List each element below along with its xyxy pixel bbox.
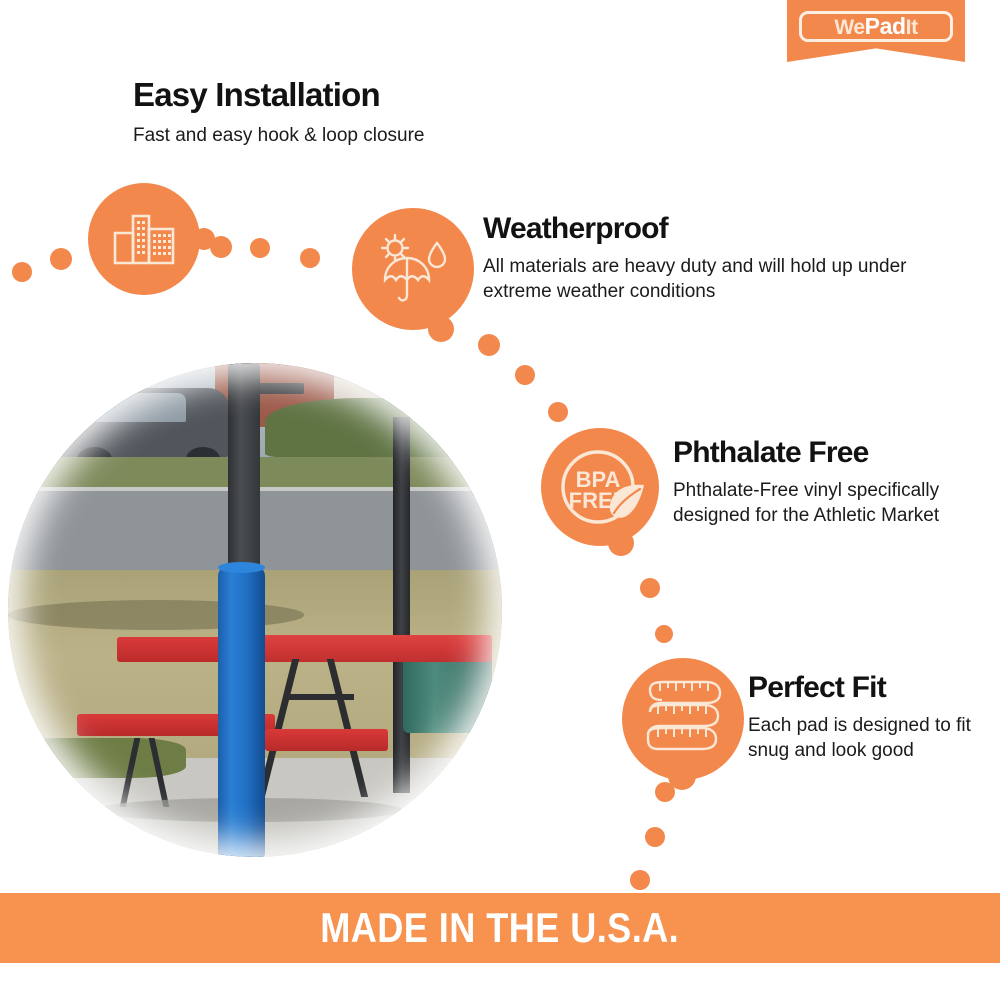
connector-dot xyxy=(645,827,665,847)
connector-dot xyxy=(640,578,660,598)
feature-description-weatherproof: All materials are heavy duty and will ho… xyxy=(483,254,913,305)
feature-icon-badge-phthalate-free: BPA FREE xyxy=(541,428,659,546)
connector-dot xyxy=(250,238,270,258)
feature-icon-badge-easy-installation xyxy=(88,183,200,295)
product-photo xyxy=(8,363,502,857)
feature-block-easy-installation: Easy Installation Fast and easy hook & l… xyxy=(133,78,613,148)
connector-dot xyxy=(478,334,500,356)
connector-dot xyxy=(655,625,673,643)
umbrella-sun-raindrop-icon xyxy=(376,233,450,305)
bpa-free-leaf-icon: BPA FREE xyxy=(548,435,652,539)
connector-dot xyxy=(548,402,568,422)
infographic-page: WePadIt Easy Installation Fast and easy … xyxy=(0,0,1000,987)
connector-dot xyxy=(210,236,232,258)
feature-icon-badge-weatherproof xyxy=(352,208,474,330)
feature-title-weatherproof: Weatherproof xyxy=(483,213,913,245)
product-photo-scene xyxy=(8,363,502,857)
badge-nub-weatherproof xyxy=(428,316,454,342)
feature-title-phthalate-free: Phthalate Free xyxy=(673,437,973,469)
feature-block-phthalate-free: Phthalate Free Phthalate-Free vinyl spec… xyxy=(673,437,973,528)
brand-logo-pad: Pad xyxy=(865,13,906,39)
brand-logo-plate: WePadIt xyxy=(799,11,953,42)
connector-dot xyxy=(630,870,650,890)
made-in-usa-label: MADE IN THE U.S.A. xyxy=(321,904,680,952)
brand-logo-text: WePadIt xyxy=(834,15,917,38)
feature-title-easy-installation: Easy Installation xyxy=(133,78,613,113)
brand-banner: WePadIt xyxy=(787,0,965,62)
buildings-icon xyxy=(113,213,175,265)
badge-nub-phthalate-free xyxy=(608,530,634,556)
connector-dot xyxy=(50,248,72,270)
connector-dot xyxy=(12,262,32,282)
connector-dot xyxy=(655,782,675,802)
feature-block-weatherproof: Weatherproof All materials are heavy dut… xyxy=(483,213,913,304)
feature-block-perfect-fit: Perfect Fit Each pad is designed to fit … xyxy=(748,672,983,763)
brand-logo-it: It xyxy=(906,16,918,39)
made-in-usa-banner: MADE IN THE U.S.A. xyxy=(0,893,1000,963)
feature-description-phthalate-free: Phthalate-Free vinyl specifically design… xyxy=(673,478,973,529)
feature-title-perfect-fit: Perfect Fit xyxy=(748,672,983,704)
connector-dot xyxy=(300,248,320,268)
measuring-tape-icon xyxy=(640,678,726,760)
feature-description-easy-installation: Fast and easy hook & loop closure xyxy=(133,123,613,148)
feature-description-perfect-fit: Each pad is designed to fit snug and loo… xyxy=(748,713,983,764)
brand-logo-we: We xyxy=(834,16,864,39)
connector-dot xyxy=(515,365,535,385)
